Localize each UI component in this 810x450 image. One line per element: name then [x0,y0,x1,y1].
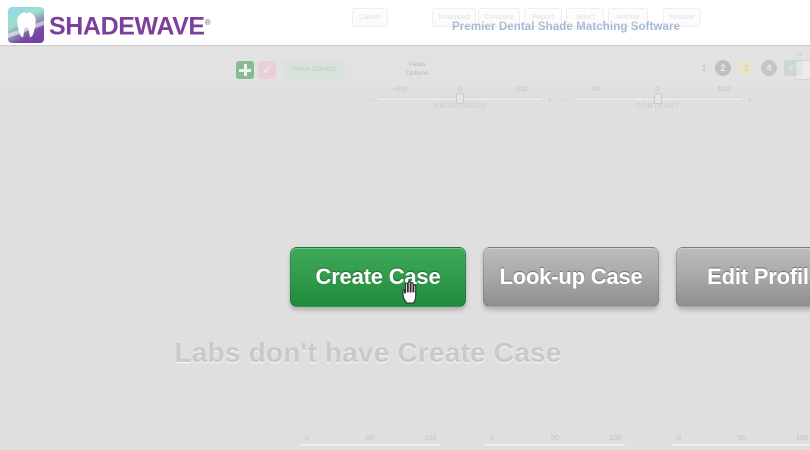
toolbar-button-5[interactable]: Archive [608,8,648,27]
move-correct-button[interactable]: Move Correct [283,61,345,79]
ghost-note-text: Labs don't have Create Case [0,337,736,369]
views-options-label: Views Options [398,60,436,78]
brightness-decrease-icon[interactable]: − [370,95,375,104]
bottom-axis-0-tick-0: 0 [305,433,309,442]
brand-word-wave: WAVE [135,12,205,40]
toolbar-button-1[interactable]: Download [432,8,476,27]
contrast-tick-max: 100 [717,84,730,93]
edit-profile-button[interactable]: Edit Profile [676,247,810,307]
brightness-tick-mid: 0 [458,84,462,93]
bottom-axis-2: 0 50 100 [672,432,810,450]
image-adjust-panel: − -100 0 100 BRIGHTNESS + − -50 0 100 CO… [380,84,750,114]
tooth-logo-icon [8,7,44,43]
badge-4[interactable]: 4 [761,60,777,76]
toolbar-button-6[interactable]: Restore [663,8,701,27]
badge-1[interactable]: 1 [700,60,708,76]
views-options-line2: Options [398,69,436,78]
bottom-axis-2-tick-0: 0 [677,433,681,442]
brightness-slider[interactable]: − -100 0 100 BRIGHTNESS + [380,84,540,114]
badge-2[interactable]: 2 [715,60,731,76]
tooth-shape [17,12,36,38]
bottom-axis-0: 0 50 100 [300,432,440,450]
toolbar-button-2[interactable]: Compare [478,8,520,27]
bottom-axis-2-line [672,444,810,446]
brightness-tick-max: 100 [515,84,528,93]
bottom-axis-0-tick-2: 100 [424,433,437,442]
create-case-button[interactable]: Create Case [290,247,466,307]
toolbar-button-4[interactable]: Select [566,8,604,27]
image-slot-badges: 1 2 3 4 ST [700,60,802,76]
trademark-symbol: ® [205,18,211,27]
select-checkbox[interactable]: ✓ [258,61,276,79]
toolbar-button-3[interactable]: Report [524,8,562,27]
badge-3[interactable]: 3 [738,60,754,76]
add-case-button[interactable] [236,61,254,79]
brand-wordmark: SHADEWAVE® [49,5,210,44]
views-options-line1: Views [398,60,436,69]
brand-logo[interactable]: SHADEWAVE® [8,5,210,44]
contrast-slider[interactable]: − -50 0 100 CONTRAST + [575,84,740,114]
look-up-case-button[interactable]: Look-up Case [483,247,659,307]
brightness-tick-min: -100 [392,84,407,93]
toolbar-button-0[interactable]: Cancel [352,8,388,27]
contrast-increase-icon[interactable]: + [747,95,752,104]
bottom-axis-1: 0 50 100 [485,432,625,450]
bottom-axis-2-tick-2: 100 [796,433,809,442]
brightness-label: BRIGHTNESS [380,103,540,110]
contrast-label: CONTRAST [575,103,740,110]
toolbar-corner-label: O [797,52,802,58]
bottom-ghost-axes: 0 50 100 0 50 100 0 50 100 [0,432,810,450]
contrast-decrease-icon[interactable]: − [563,95,568,104]
brightness-increase-icon[interactable]: + [547,95,552,104]
contrast-tick-min: -50 [589,84,600,93]
bottom-axis-1-tick-1: 50 [551,433,559,442]
bottom-axis-0-tick-1: 50 [366,433,374,442]
toolbar-corner-field[interactable] [795,60,810,80]
contrast-tick-mid: 0 [655,84,659,93]
bottom-axis-1-tick-2: 100 [609,433,622,442]
bottom-axis-0-line [300,444,440,446]
bottom-axis-1-line [485,444,625,446]
brand-word-shade: SHADE [49,12,135,40]
bottom-axis-2-tick-1: 50 [738,433,746,442]
primary-action-row: Create Case Look-up Case Edit Profile [290,247,810,307]
bottom-axis-1-tick-0: 0 [490,433,494,442]
